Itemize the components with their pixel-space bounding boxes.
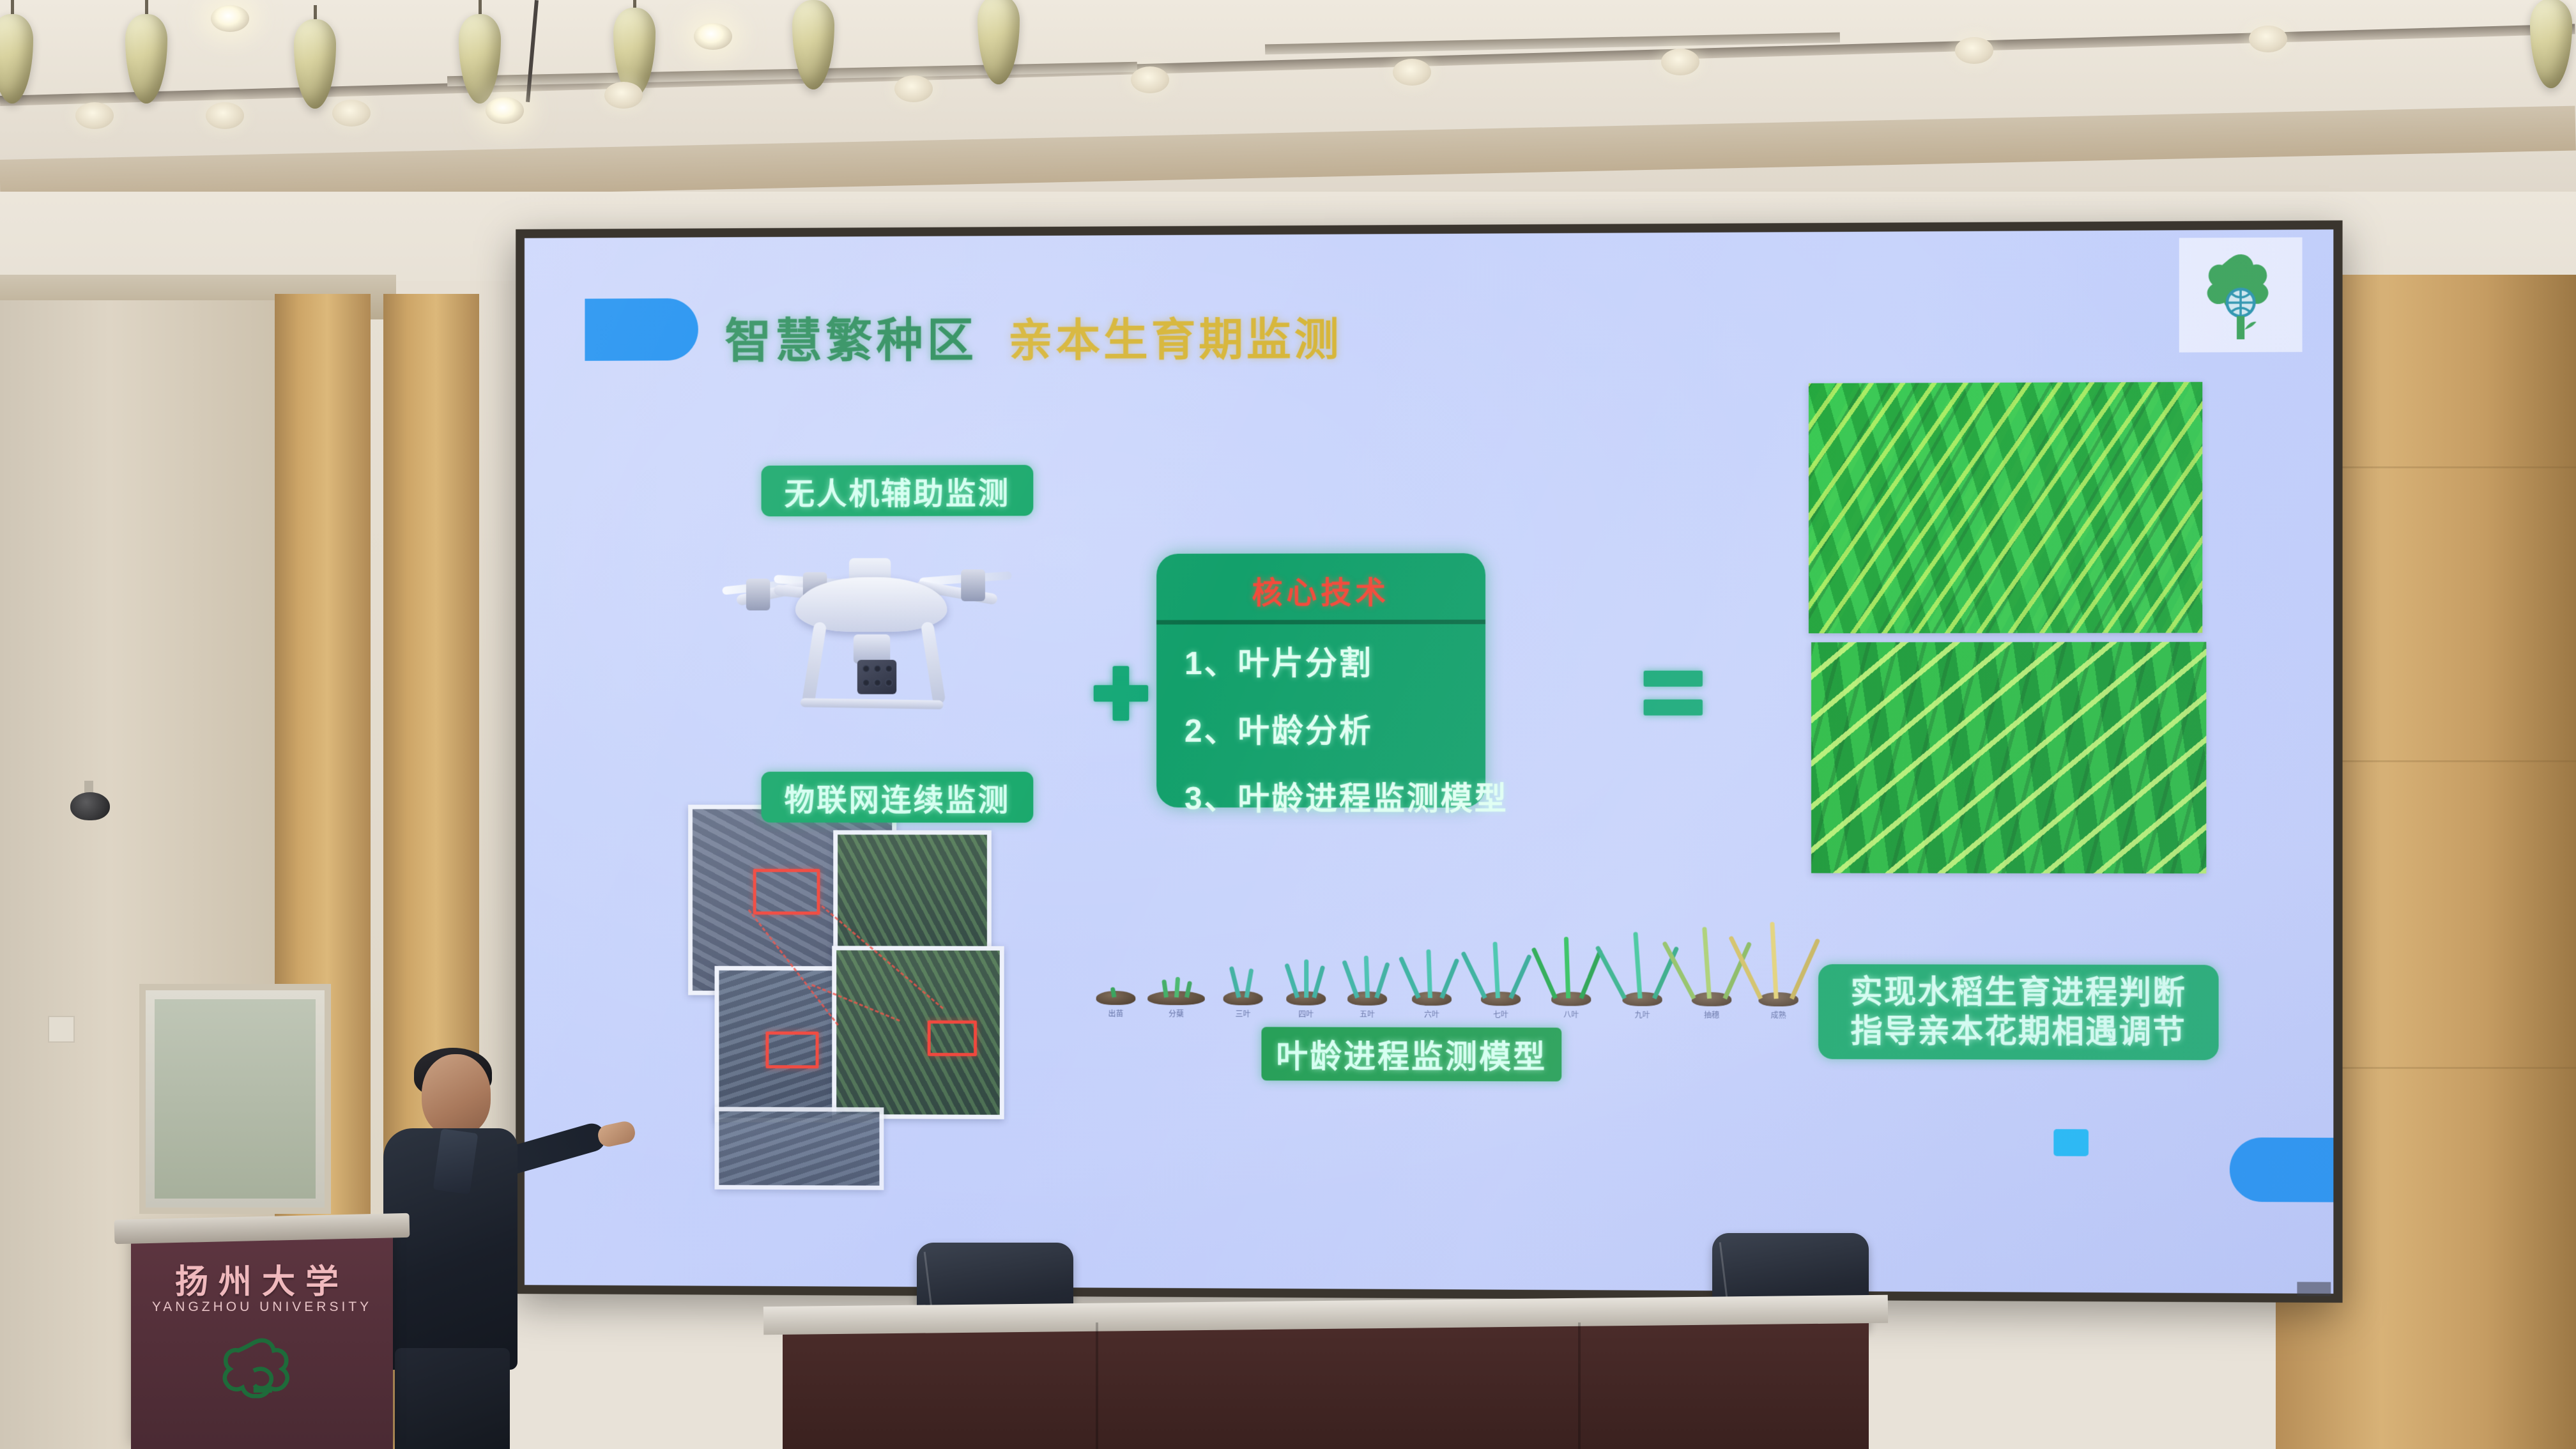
roi-box [765, 1031, 818, 1068]
podium-university-name-en: YANGZHOU UNIVERSITY [131, 1299, 393, 1315]
screenshot-root: 智慧繁种区 亲本生育期监测 [0, 0, 2576, 1449]
core-technology-list: 1、叶片分割 2、叶龄分析 3、叶龄进程监测模型 [1184, 638, 1473, 841]
card-divider [1156, 620, 1485, 625]
growth-stage-item: 五叶 [1340, 956, 1395, 1020]
stage-label: 出苗 [1108, 1008, 1124, 1019]
leaf-blade [1770, 922, 1778, 999]
stage-label: 七叶 [1493, 1009, 1508, 1020]
drone-skid [801, 698, 944, 710]
lecture-hall-room: 智慧繁种区 亲本生育期监测 [0, 0, 2576, 1449]
recessed-downlight [211, 5, 249, 32]
leaf-blade [1110, 987, 1117, 998]
recessed-downlight [75, 102, 114, 129]
result-conclusion-box: 实现水稻生育进程判断 指导亲本花期相遇调节 [1818, 964, 2219, 1060]
core-list-item: 2、叶龄分析 [1184, 705, 1473, 751]
recessed-downlight [2249, 26, 2287, 52]
decorative-square [2053, 1129, 2089, 1156]
label-leaf-age-model: 叶龄进程监测模型 [1261, 1027, 1561, 1081]
decorative-pill [2230, 1137, 2333, 1202]
stage-label: 分蘖 [1169, 1008, 1184, 1019]
recessed-downlight [604, 82, 643, 109]
recessed-downlight [1661, 49, 1699, 75]
slide-title-main: 智慧繁种区 [724, 314, 977, 367]
plus-operator-icon [1094, 666, 1149, 721]
growth-stage-item: 六叶 [1402, 948, 1461, 1020]
label-iot-monitoring: 物联网连续监测 [762, 772, 1034, 823]
stage-label: 三叶 [1236, 1008, 1251, 1019]
seedling-clump-icon [1223, 991, 1263, 1005]
field-photo-collage [688, 796, 1068, 1140]
leaf-blade [1633, 932, 1642, 999]
growth-stage-item: 三叶 [1218, 963, 1269, 1019]
recessed-downlight [694, 23, 732, 50]
drone-multispectral-camera [857, 660, 896, 694]
drone-motor [961, 569, 985, 601]
core-list-item: 1、叶片分割 [1184, 638, 1473, 684]
presenter-head [422, 1054, 491, 1136]
slide-surface: 智慧繁种区 亲本生育期监测 [525, 229, 2333, 1294]
title-accent-pill [585, 298, 698, 361]
wall-access-panel [139, 984, 331, 1214]
growth-stage-item: 分蘖 [1149, 977, 1204, 1019]
growth-stage-item: 成熟 [1747, 921, 1810, 1021]
slide-title: 智慧繁种区 亲本生育期监测 [724, 301, 1342, 371]
recessed-downlight [332, 100, 371, 126]
stage-label: 四叶 [1298, 1009, 1314, 1020]
growth-stage-item: 出苗 [1093, 986, 1139, 1019]
field-texture [838, 834, 987, 953]
growth-stage-item: 四叶 [1278, 958, 1333, 1020]
slide-title-sub: 亲本生育期监测 [1008, 315, 1342, 366]
drone-landing-leg [802, 621, 827, 705]
leaf-blade [1508, 954, 1532, 999]
leaf-blade [1426, 949, 1432, 998]
leaf-blade [1439, 958, 1459, 999]
leaf-blade [1531, 947, 1557, 999]
rice-panicle-photo-top [1809, 382, 2202, 633]
field-canopy-zoom-photo [832, 946, 1004, 1119]
growth-stage-item: 七叶 [1470, 940, 1531, 1020]
recessed-downlight [206, 102, 244, 129]
drone-motor [746, 579, 770, 611]
wall-socket [48, 1016, 75, 1043]
growth-stage-row: 出苗 分蘖 三叶 [1093, 910, 1738, 1020]
green-leaf-globe-logo [2179, 237, 2303, 352]
projection-screen: 智慧繁种区 亲本生育期监测 [516, 220, 2342, 1303]
projector-corner-tag [2297, 1282, 2331, 1296]
field-canopy-photo [833, 830, 992, 957]
lectern-podium: 扬州大学 YANGZHOU UNIVERSITY [131, 1233, 393, 1449]
leaf-blade [1702, 927, 1712, 999]
leaf-blade [1652, 946, 1679, 999]
conference-table [783, 1322, 1869, 1449]
recessed-downlight [1393, 59, 1431, 86]
recessed-downlight [894, 75, 933, 102]
equals-operator-icon [1644, 671, 1703, 716]
leaf-blade [1304, 960, 1308, 998]
leaf-blade [1374, 962, 1390, 999]
stage-label: 抽穗 [1704, 1009, 1719, 1020]
growth-stage-item: 八叶 [1540, 935, 1602, 1020]
recessed-downlight [486, 97, 524, 124]
stage-label: 九叶 [1635, 1009, 1650, 1020]
rice-texture [1811, 642, 2206, 874]
stage-label: 成熟 [1771, 1009, 1786, 1020]
leaf-blade [1399, 956, 1421, 999]
podium-university-name: 扬州大学 [131, 1255, 393, 1303]
leaf-blade [1364, 956, 1370, 998]
drone-illustration [714, 516, 1030, 726]
field-texture [719, 1111, 879, 1185]
leaf-blade [1492, 942, 1500, 998]
table-seam [1578, 1322, 1581, 1449]
roi-box [753, 869, 820, 915]
ceiling-camera-icon [70, 792, 110, 820]
recessed-downlight [1131, 66, 1169, 93]
stage-label: 五叶 [1360, 1009, 1375, 1020]
table-seam [1096, 1322, 1098, 1449]
recessed-downlight [1955, 37, 1993, 64]
roi-box [928, 1020, 977, 1056]
leaf-blade [1790, 938, 1820, 999]
stage-label: 六叶 [1424, 1009, 1439, 1020]
yangzhou-university-emblem [220, 1335, 304, 1420]
rice-texture [1809, 382, 2202, 633]
field-extra-photo [715, 1107, 884, 1190]
presenter-legs [395, 1348, 510, 1449]
stage-label: 八叶 [1563, 1009, 1579, 1020]
leaf-blade [1342, 960, 1360, 999]
rice-panicle-photo-bottom [1811, 642, 2206, 874]
result-line-1: 实现水稻生育进程判断 [1850, 972, 2186, 1012]
leaf-blade [1460, 951, 1487, 999]
core-list-item: 3、叶龄进程监测模型 [1184, 773, 1473, 819]
core-technology-heading: 核心技术 [1156, 567, 1485, 613]
drone-landing-leg [921, 621, 946, 705]
result-line-2: 指导亲本花期相遇调节 [1850, 1012, 2186, 1052]
label-drone-monitoring: 无人机辅助监测 [762, 465, 1034, 517]
leaf-blade [1564, 937, 1570, 998]
core-technology-card: 核心技术 1、叶片分割 2、叶龄分析 3、叶龄进程监测模型 [1156, 553, 1485, 808]
